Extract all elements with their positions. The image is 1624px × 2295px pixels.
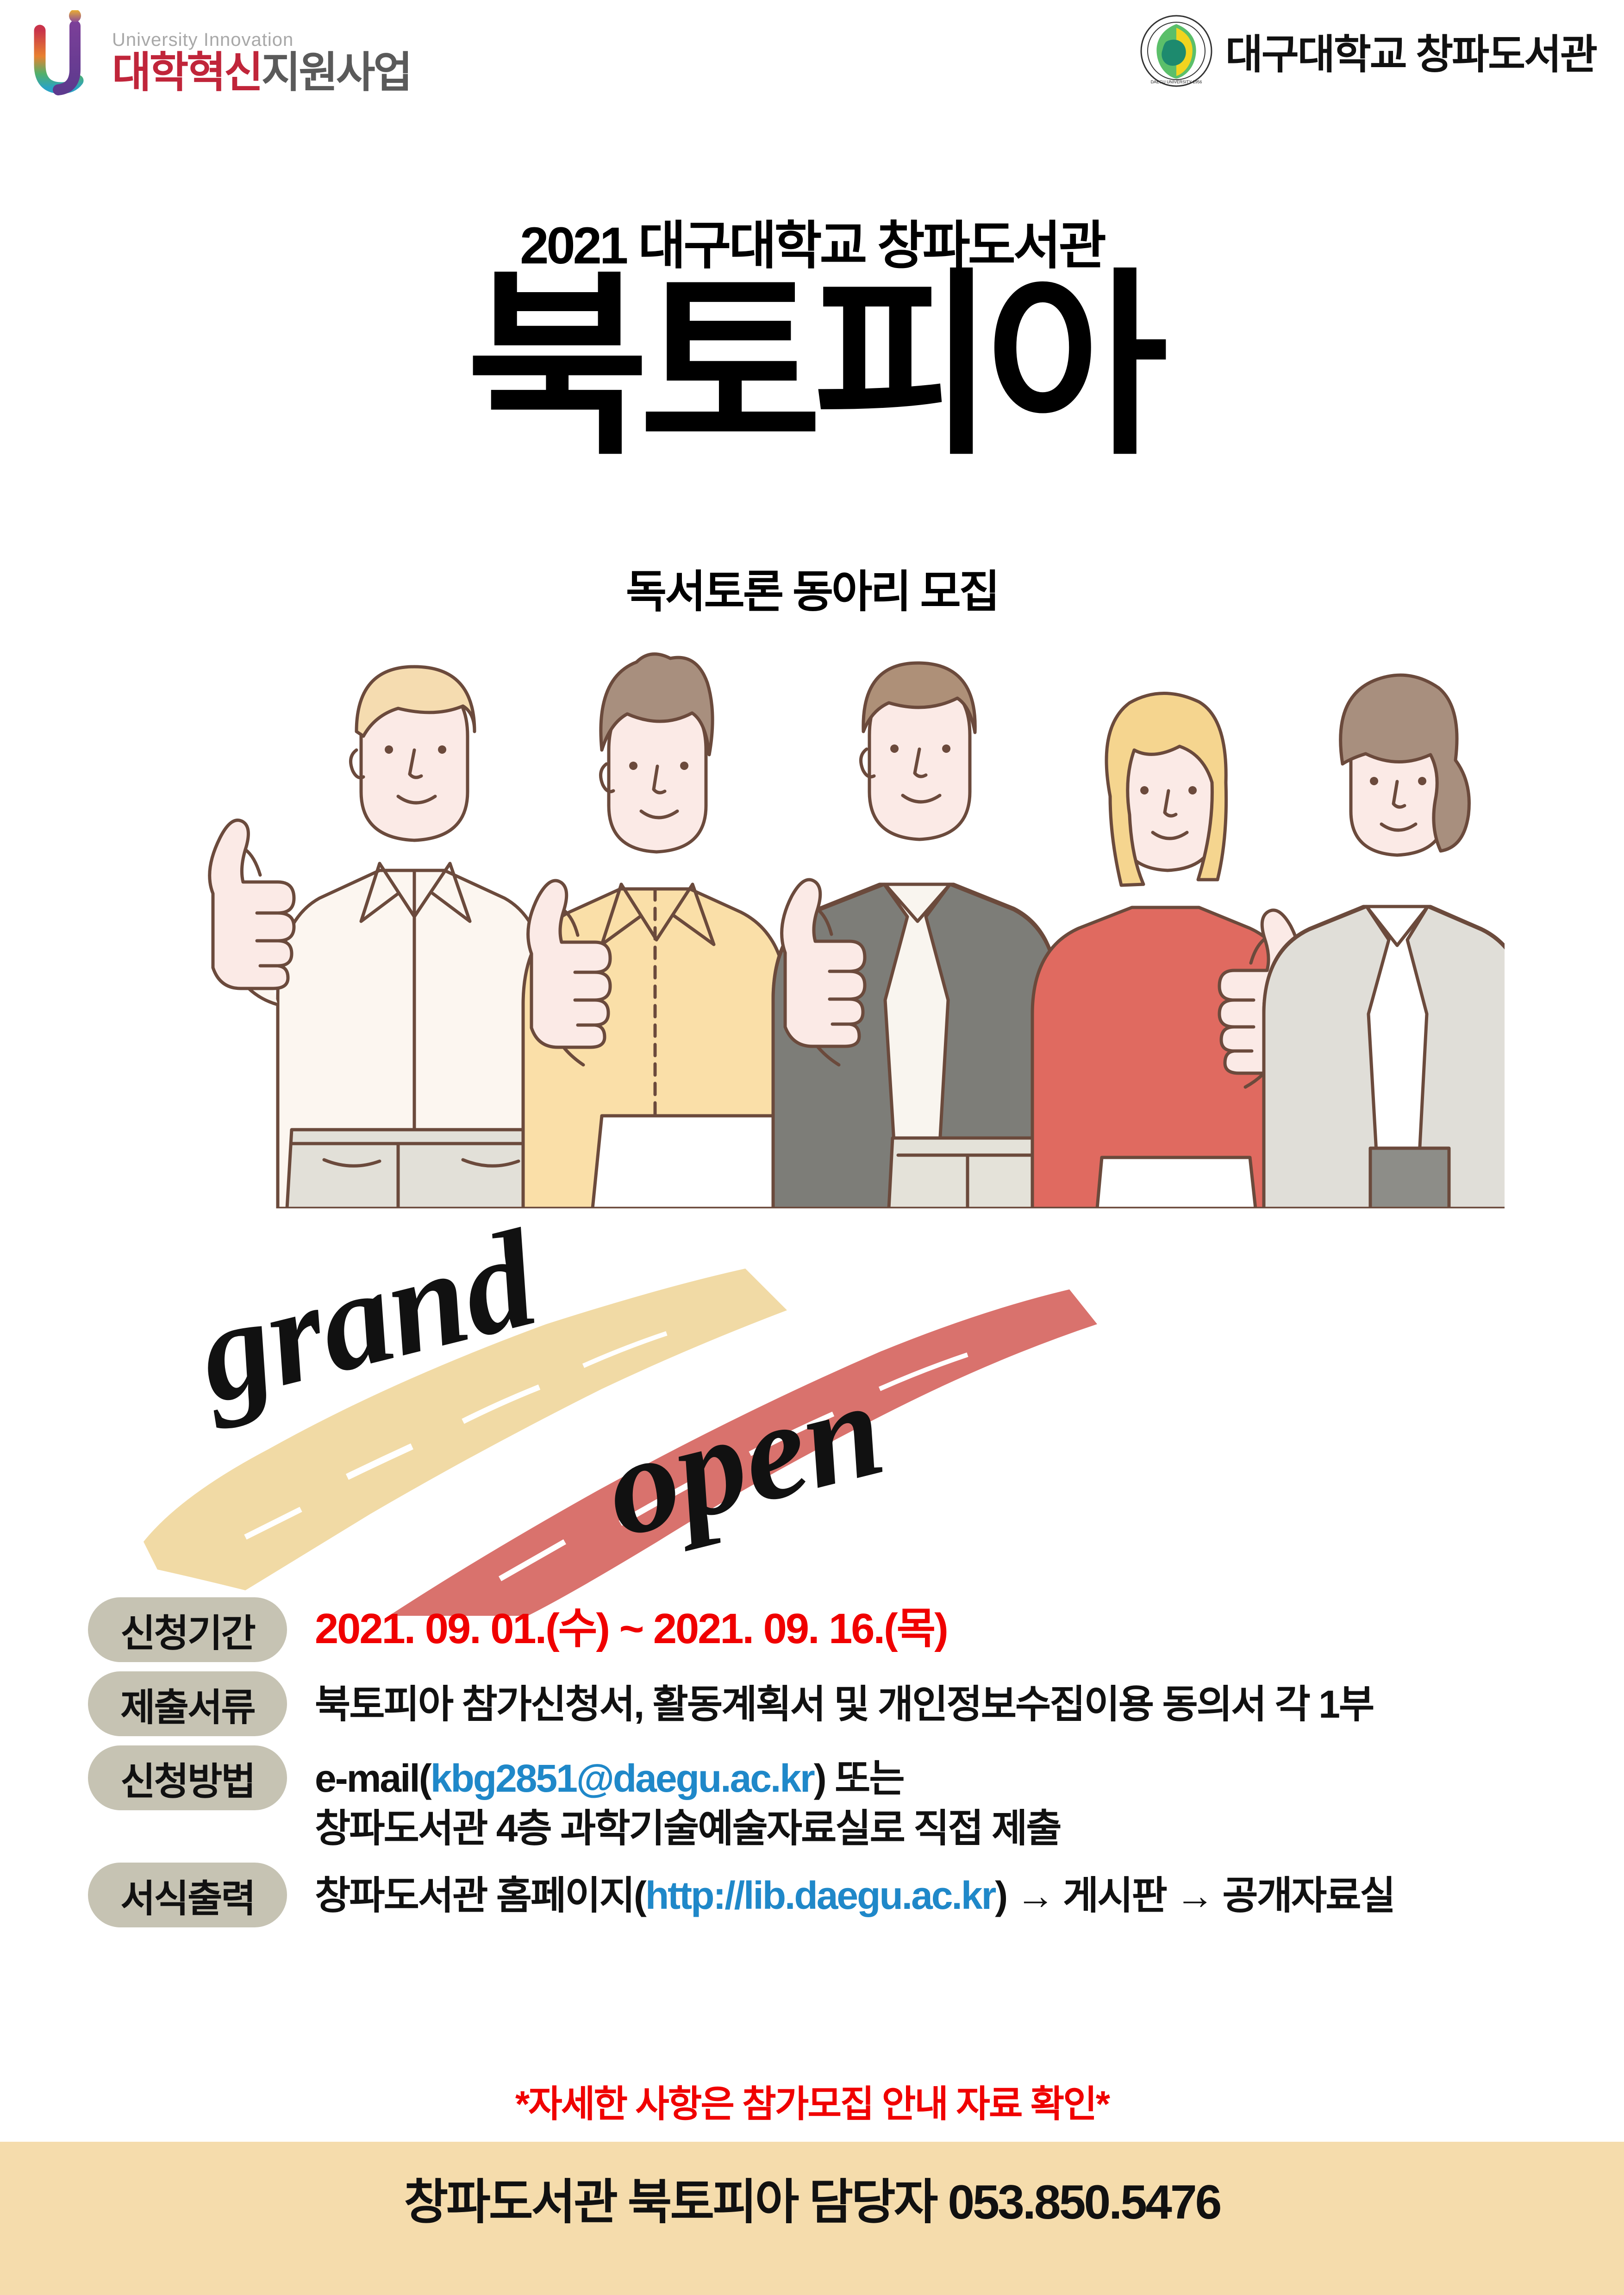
uj-logo-text: University Innovation 대학혁신지원사업 xyxy=(112,10,411,96)
homepage-link[interactable]: http://lib.daegu.ac.kr xyxy=(645,1874,995,1917)
brush-word-open: open xyxy=(590,1350,897,1567)
uj-title-gray: 지원사업 xyxy=(262,49,411,96)
footer-bar: 창파도서관 북토피아 담당자 053.850.5476 xyxy=(0,2142,1624,2295)
info-row-documents: 제출서류 북토피아 참가신청서, 활동계획서 및 개인정보수집이용 동의서 각 … xyxy=(88,1671,1560,1736)
info-value-method-line2: 창파도서관 4층 과학기술예술자료실로 직접 제출 xyxy=(315,1804,1061,1854)
university-innovation-logo: University Innovation 대학혁신지원사업 xyxy=(32,10,411,96)
footer-contact-text: 창파도서관 북토피아 담당자 053.850.5476 xyxy=(404,2163,1220,2232)
info-label-forms: 서식출력 xyxy=(88,1863,287,1927)
info-value-method-line1: e-mail(kbg2851@daegu.ac.kr) 또는 xyxy=(315,1754,1061,1804)
info-table: 신청기간 2021. 09. 01.(수) ~ 2021. 09. 16.(목)… xyxy=(88,1597,1560,1937)
daegu-university-library-logo: DAEGU UNIVERSITY 1956 대구대학교 창파도서관 xyxy=(1139,14,1596,88)
uj-tagline: University Innovation xyxy=(112,30,411,50)
info-note: *자세한 사항은 참가모집 안내 자료 확인* xyxy=(0,2074,1624,2128)
email-link[interactable]: kbg2851@daegu.ac.kr xyxy=(431,1757,814,1800)
library-logo-label: 대구대학교 창파도서관 xyxy=(1225,22,1596,81)
svg-text:DAEGU UNIVERSITY 1956: DAEGU UNIVERSITY 1956 xyxy=(1151,80,1202,84)
info-label-method: 신청방법 xyxy=(88,1745,287,1810)
info-row-forms: 서식출력 창파도서관 홈페이지(http://lib.daegu.ac.kr) … xyxy=(88,1863,1560,1927)
info-value-method: e-mail(kbg2851@daegu.ac.kr) 또는 창파도서관 4층 … xyxy=(315,1745,1061,1853)
info-label-documents: 제출서류 xyxy=(88,1671,287,1736)
people-thumbs-up-illustration xyxy=(139,597,1505,1208)
info-value-application-period: 2021. 09. 01.(수) ~ 2021. 09. 16.(목) xyxy=(315,1597,947,1657)
page-title: 북토피아 xyxy=(0,252,1624,482)
uj-title: 대학혁신지원사업 xyxy=(112,51,411,94)
grand-open-brush-artwork: grand open xyxy=(130,1171,1518,1616)
uj-title-red: 대학혁신 xyxy=(112,49,262,96)
info-value-forms: 창파도서관 홈페이지(http://lib.daegu.ac.kr) → 게시판… xyxy=(315,1863,1394,1921)
daegu-university-seal-icon: DAEGU UNIVERSITY 1956 xyxy=(1139,14,1213,88)
info-value-documents: 북토피아 참가신청서, 활동계획서 및 개인정보수집이용 동의서 각 1부 xyxy=(315,1671,1373,1730)
info-label-application-period: 신청기간 xyxy=(88,1597,287,1662)
uj-mark-icon xyxy=(32,10,102,96)
info-row-application-period: 신청기간 2021. 09. 01.(수) ~ 2021. 09. 16.(목) xyxy=(88,1597,1560,1662)
info-row-method: 신청방법 e-mail(kbg2851@daegu.ac.kr) 또는 창파도서… xyxy=(88,1745,1560,1853)
